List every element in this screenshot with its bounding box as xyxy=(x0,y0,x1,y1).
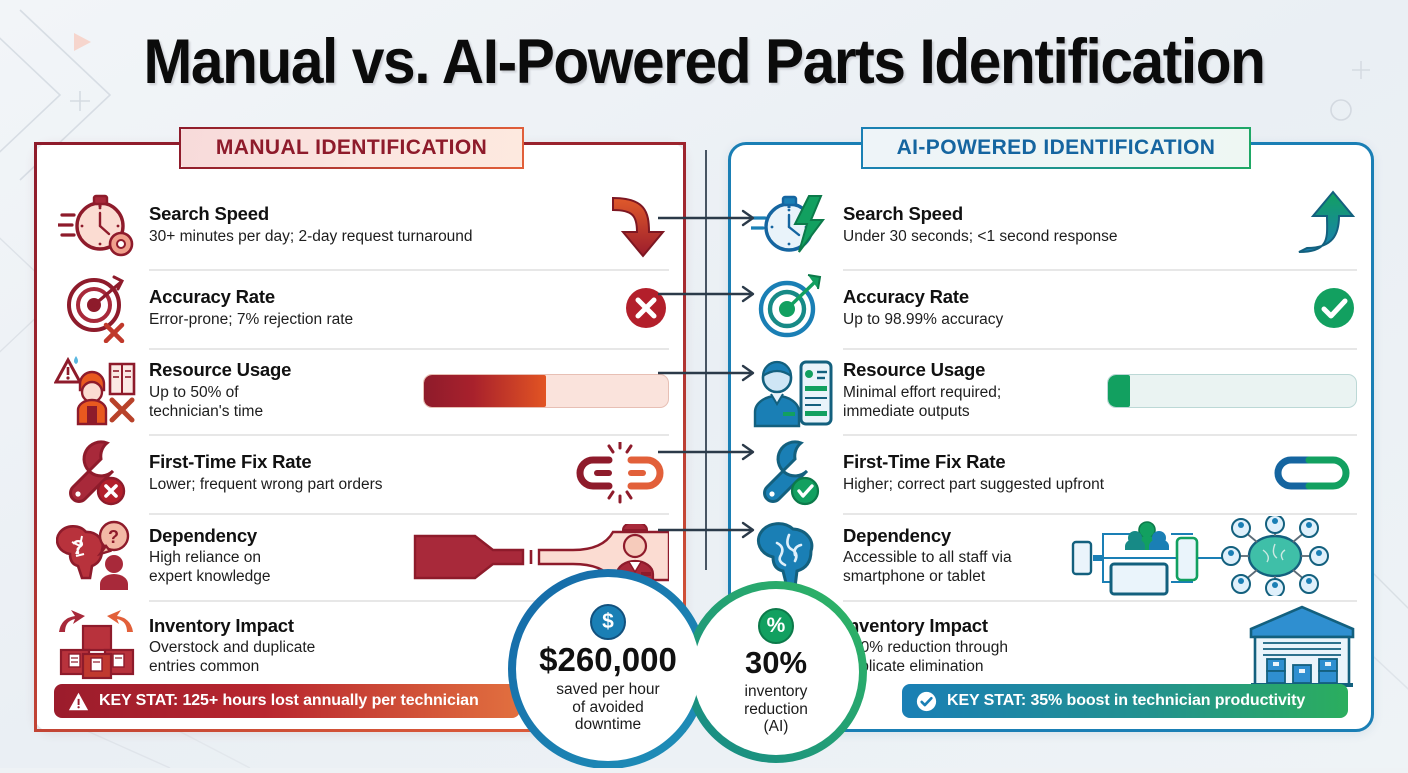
warehouse-icon xyxy=(1239,603,1357,689)
key-stat-text: KEY STAT: 35% boost in technician produc… xyxy=(947,692,1305,710)
badge-glyph: $ xyxy=(602,610,614,634)
warning-triangle-icon xyxy=(68,691,89,712)
stopwatch-gear-icon xyxy=(51,190,143,260)
row-search-speed-manual: Search Speed 30+ minutes per day; 2-day … xyxy=(51,183,669,267)
row-title: First-Time Fix Rate xyxy=(149,451,565,472)
row-sub: Minimal effort required; immediate outpu… xyxy=(843,384,1099,422)
key-stat-text: KEY STAT: 125+ hours lost annually per t… xyxy=(99,692,479,710)
row-first-time-fix-manual: First-Time Fix Rate Lower; frequent wron… xyxy=(51,434,669,512)
row-sub: Overstock and duplicate entries common xyxy=(149,639,549,677)
percent-seal-icon: % xyxy=(758,608,794,644)
progress-bar-track xyxy=(423,374,669,408)
row-first-time-fix-ai: First-Time Fix Rate Higher; correct part… xyxy=(745,434,1357,512)
row-sub: Lower; frequent wrong part orders xyxy=(149,476,565,495)
brain-question-icon: ? ? xyxy=(51,520,143,592)
reduction-circle: % 30% inventory reduction (AI) xyxy=(693,589,859,755)
row-search-speed-ai: Search Speed Under 30 seconds; <1 second… xyxy=(745,183,1357,267)
up-arrow-icon xyxy=(1285,190,1357,260)
linked-chain-icon xyxy=(1259,450,1357,496)
row-sub: Error-prone; 7% rejection rate xyxy=(149,311,615,330)
row-sub: Higher; correct part suggested upfront xyxy=(843,476,1259,495)
row-sub: Up to 50% of technician's time xyxy=(149,384,415,422)
metric-caption: inventory reduction (AI) xyxy=(744,683,808,737)
svg-text:?: ? xyxy=(108,527,119,547)
row-title: Search Speed xyxy=(843,203,1285,224)
row-accuracy-rate-manual: Accuracy Rate Error-prone; 7% rejection … xyxy=(51,269,669,347)
row-resource-usage-ai: Resource Usage Minimal effort required; … xyxy=(745,348,1357,433)
row-sub: Under 30 seconds; <1 second response xyxy=(843,228,1285,247)
ai-badge: AI-POWERED IDENTIFICATION xyxy=(861,127,1251,169)
metric-value: 30% xyxy=(745,647,807,678)
worried-technician-icon xyxy=(51,354,143,428)
row-sub: 30+ minutes per day; 2-day request turna… xyxy=(149,228,597,247)
resource-progress-bar xyxy=(415,374,669,408)
check-circle-icon xyxy=(1303,285,1357,331)
target-arrow-x-icon xyxy=(51,273,143,343)
key-metric-circles: $ $260,000 saved per hour of avoided dow… xyxy=(498,564,910,768)
row-title: First-Time Fix Rate xyxy=(843,451,1259,472)
row-title: Accuracy Rate xyxy=(149,286,615,307)
ai-key-stat: KEY STAT: 35% boost in technician produc… xyxy=(902,684,1348,718)
check-circle-icon xyxy=(916,691,937,712)
row-title: Resource Usage xyxy=(149,359,415,380)
manual-key-stat: KEY STAT: 125+ hours lost annually per t… xyxy=(54,684,520,718)
row-sub: High reliance on expert knowledge xyxy=(149,549,405,587)
manual-badge: MANUAL IDENTIFICATION xyxy=(179,127,524,169)
scattered-boxes-icon xyxy=(51,606,143,686)
dollar-coin-icon: $ xyxy=(590,604,626,640)
row-title: Search Speed xyxy=(149,203,597,224)
resource-progress-bar xyxy=(1099,374,1357,408)
row-accuracy-rate-ai: Accuracy Rate Up to 98.99% accuracy xyxy=(745,269,1357,347)
badge-glyph: % xyxy=(767,614,786,638)
row-title: Inventory Impact xyxy=(149,615,549,636)
row-title: Dependency xyxy=(149,525,405,546)
row-resource-usage-manual: Resource Usage Up to 50% of technician's… xyxy=(51,348,669,433)
wrench-x-icon xyxy=(51,439,143,507)
row-sub: Up to 98.99% accuracy xyxy=(843,311,1303,330)
metric-value: $260,000 xyxy=(539,643,677,676)
row-title: Resource Usage xyxy=(843,359,1099,380)
progress-bar-track xyxy=(1107,374,1357,408)
progress-bar-fill xyxy=(1108,375,1130,407)
savings-circle: $ $260,000 saved per hour of avoided dow… xyxy=(516,577,700,761)
connected-devices-icon xyxy=(1059,516,1357,596)
row-title: Dependency xyxy=(843,525,1059,546)
progress-bar-fill xyxy=(424,375,546,407)
svg-text:?: ? xyxy=(72,537,84,559)
metric-caption: saved per hour of avoided downtime xyxy=(556,681,659,735)
row-title: Accuracy Rate xyxy=(843,286,1303,307)
